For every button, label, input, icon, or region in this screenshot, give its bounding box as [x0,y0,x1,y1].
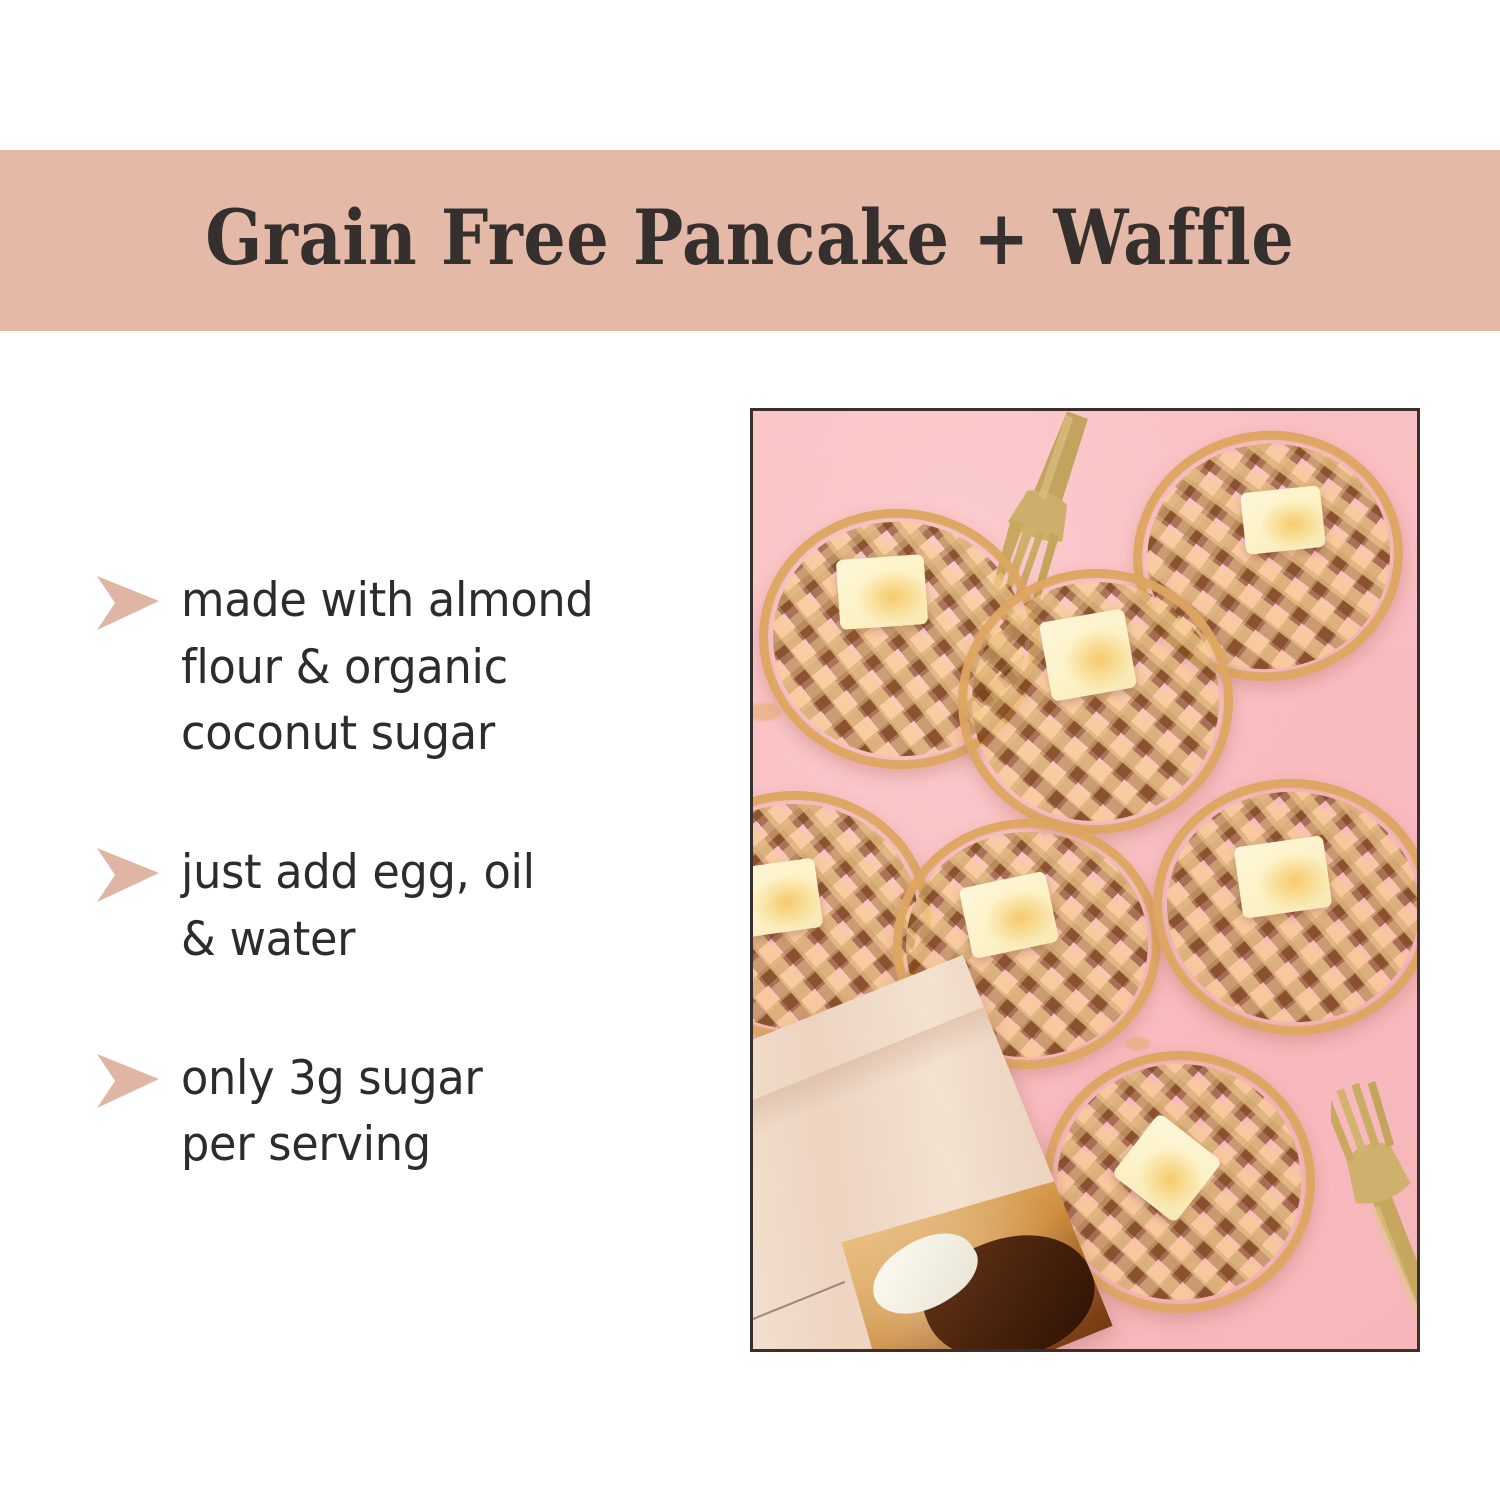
list-item-label: only 3g sugar per serving [181,1046,483,1179]
butter-pat [1039,608,1138,702]
arrow-right-icon [95,1052,161,1110]
syrup-droplet [1125,1037,1151,1051]
syrup-droplet [750,703,781,721]
pouch-text-bottom: ake [750,1349,846,1352]
list-item: just add egg, oil & water [95,840,715,973]
pouch-rule [750,1281,845,1339]
arrow-right-icon [95,574,161,632]
list-item: only 3g sugar per serving [95,1046,715,1179]
butter-pat [836,554,929,630]
feature-list: made with almond flour & organic coconut… [95,568,715,1179]
pouch-seal [750,1007,997,1198]
fork-icon [1331,1071,1420,1352]
butter-pat [1233,835,1332,919]
page-title: Grain Free Pancake + Waffle [206,200,1295,282]
butter-pat [1240,485,1326,555]
list-item: made with almond flour & organic coconut… [95,568,715,768]
list-item-label: just add egg, oil & water [181,840,535,973]
header-banner: Grain Free Pancake + Waffle [0,150,1500,331]
list-item-label: made with almond flour & organic coconut… [181,568,593,768]
arrow-right-icon [95,846,161,904]
product-photo: s ake [750,408,1420,1352]
butter-pat [750,857,823,938]
photo-background: s ake [753,411,1417,1349]
